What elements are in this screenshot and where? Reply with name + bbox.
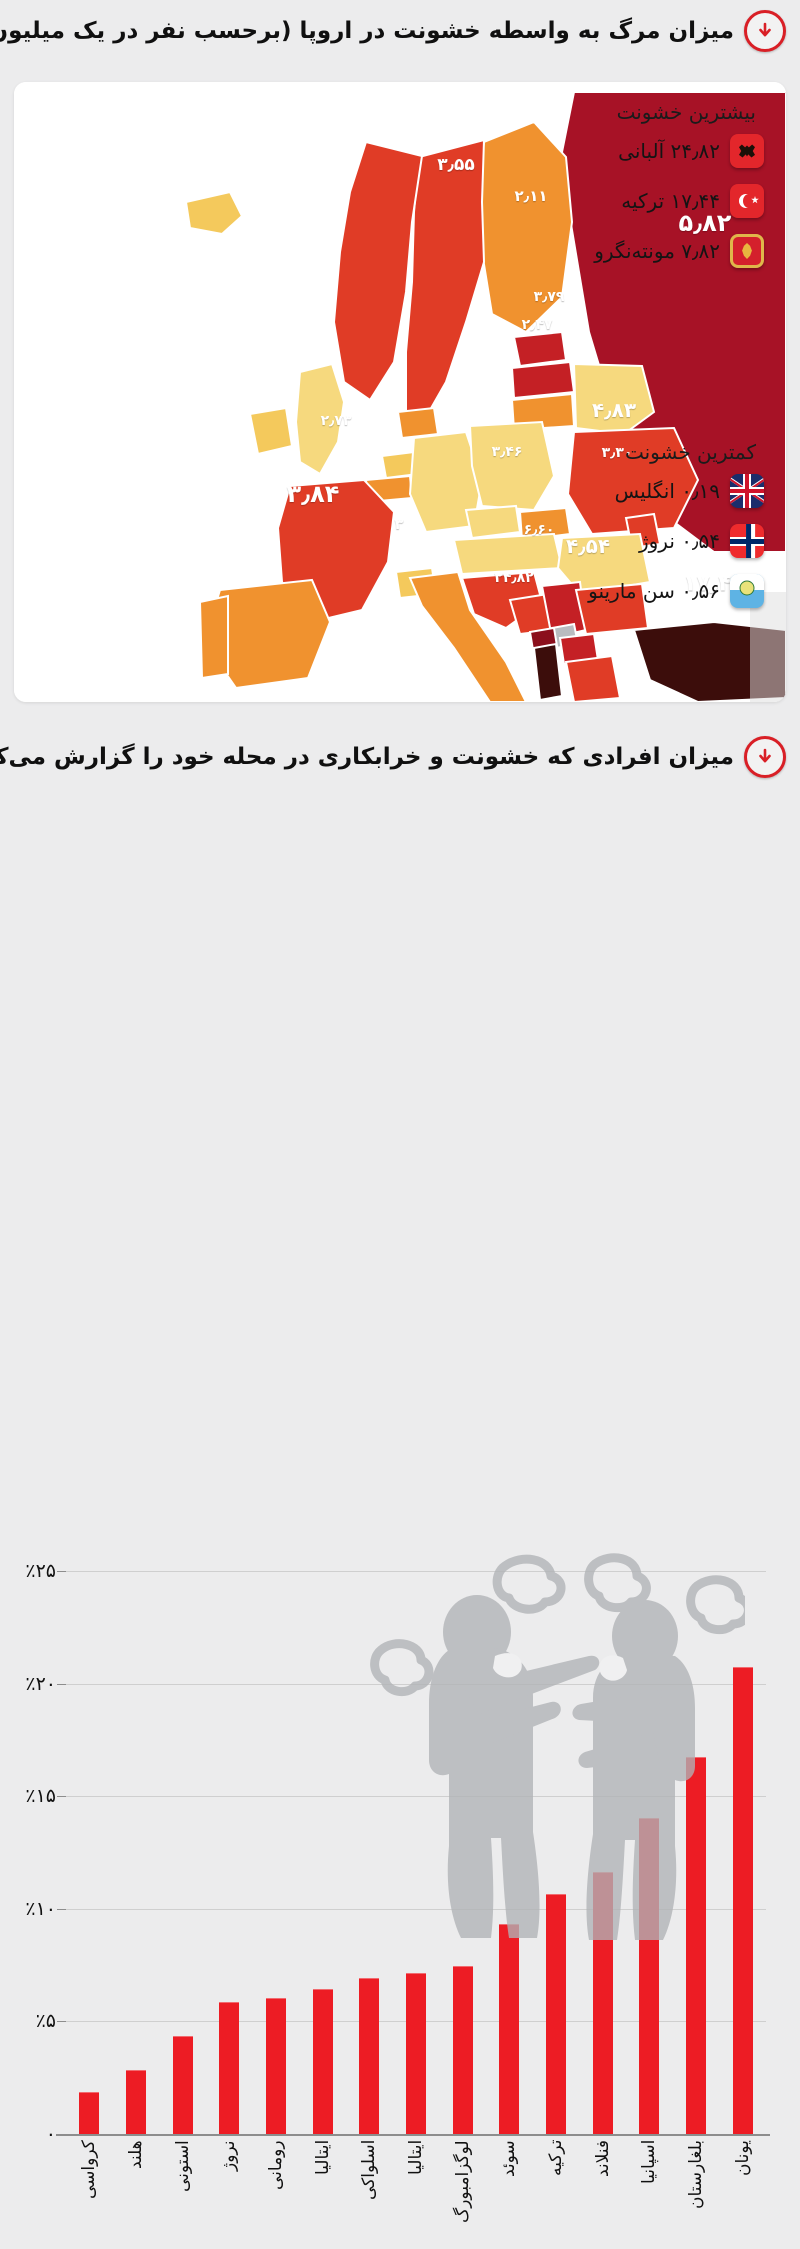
- y-tick-mark: [57, 1796, 66, 1797]
- map-value-ukraine: ۴٫۸۳: [592, 398, 636, 422]
- section-map: میزان مرگ به واسطه خشونت در اروپا (برحسب…: [0, 0, 800, 720]
- x-axis-label: اسلواکی: [359, 2140, 379, 2245]
- y-tick-mark: [57, 2021, 66, 2022]
- turkey-flag: [730, 184, 764, 218]
- map-value-latvia: ۳٫۷۹: [534, 289, 565, 305]
- y-tick-label: ٪۲۰: [25, 1673, 56, 1695]
- x-axis-label: ترکیه: [546, 2140, 566, 2245]
- y-tick-label: ٪۱۵: [25, 1785, 56, 1807]
- norway-flag: [730, 524, 764, 558]
- x-axis-label: فنلاند: [593, 2140, 613, 2245]
- x-label-cell: بلغارستان: [673, 2140, 720, 2245]
- x-axis-label: اسپانیا: [639, 2140, 659, 2245]
- x-label-cell: یونان: [719, 2140, 766, 2245]
- bar: [126, 2070, 146, 2134]
- x-axis-label: هلند: [126, 2140, 146, 2245]
- x-label-cell: رومانی: [253, 2140, 300, 2245]
- chart-section-title: میزان افرادی که خشونت و خرابکاری در محله…: [0, 746, 734, 769]
- x-label-cell: فنلاند: [579, 2140, 626, 2245]
- legend-item: ۰٫۵۴ نروژ: [588, 524, 764, 558]
- legend-item-label: ۰٫۵۴ نروژ: [639, 529, 720, 553]
- map-section-header: میزان مرگ به واسطه خشونت در اروپا (برحسب…: [0, 0, 800, 62]
- x-label-cell: ایتالیا: [393, 2140, 440, 2245]
- map-value-switzerland: ۳: [394, 515, 403, 533]
- map-value-slovakia: ۳٫۴۶: [492, 444, 523, 460]
- legend-item-label: ۱۷٫۴۴ ترکیه: [621, 189, 720, 213]
- y-tick-label: ۰: [46, 2123, 56, 2145]
- map-value-lithuania: ۲٫۴۷: [522, 317, 553, 333]
- legend-item-label: ۲۴٫۸۲ آلبانی: [618, 139, 720, 163]
- chart-title-text: میزان افرادی که خشونت و خرابکاری در محله…: [0, 744, 734, 770]
- y-tick-mark: [57, 1571, 66, 1572]
- bar-item: [66, 1571, 113, 2134]
- x-label-cell: اسلواکی: [346, 2140, 393, 2245]
- y-tick-mark: [57, 1909, 66, 1910]
- map-card: بیشترین خشونت ۲۴٫۸۲ آلبانی ۱۷٫۴۴ ترکیه ۷…: [14, 82, 786, 702]
- y-tick-label: ٪۱۰: [25, 1898, 56, 1920]
- legend-item-label: ۰٫۱۹ انگلیس: [615, 479, 720, 503]
- map-value-france: ۳٫۸۴: [287, 480, 340, 508]
- x-label-cell: ترکیه: [533, 2140, 580, 2245]
- bar: [359, 1978, 379, 2134]
- bar: [453, 1966, 473, 2134]
- x-axis-label: بلغارستان: [686, 2140, 706, 2245]
- legend-item-label: ۰٫۵۶ سن مارینو: [588, 579, 720, 603]
- albania-flag: [730, 134, 764, 168]
- bar-item: [206, 1571, 253, 2134]
- down-arrow-icon: [744, 10, 786, 52]
- down-arrow-icon: [744, 736, 786, 778]
- x-label-cell: ایتالیا: [299, 2140, 346, 2245]
- legend-most-title: بیشترین خشونت: [594, 100, 756, 124]
- x-axis-label: یونان: [733, 2140, 753, 2245]
- x-axis-label: کرواسی: [79, 2140, 99, 2245]
- chart-section-header: میزان افرادی که خشونت و خرابکاری در محله…: [0, 726, 800, 788]
- bar: [173, 2036, 193, 2134]
- map-value-finland: ۲٫۱۱: [514, 187, 547, 205]
- bar: [406, 1973, 426, 2134]
- y-tick-label: ٪۲۵: [25, 1560, 56, 1582]
- bar-item: [159, 1571, 206, 2134]
- bar: [219, 2002, 239, 2134]
- x-axis-label: سوئد: [499, 2140, 519, 2245]
- x-axis-label: ایتالیا: [406, 2140, 426, 2245]
- map-value-serbia: ۶٫۶۰: [524, 522, 555, 538]
- x-axis-label: رومانی: [266, 2140, 286, 2245]
- legend-least-violence: کمترین خشونت ۰٫۱۹ انگلیس ۰٫۵۴ نروژ: [588, 440, 764, 624]
- legend-least-title: کمترین خشونت: [588, 440, 756, 464]
- arguing-people-illustration: [345, 1546, 745, 1986]
- montenegro-flag: [730, 234, 764, 268]
- legend-item: ۲۴٫۸۲ آلبانی: [594, 134, 764, 168]
- x-label-cell: اسپانیا: [626, 2140, 673, 2245]
- x-axis-labels: یونانبلغارستاناسپانیافنلاندترکیهسوئدلوگز…: [66, 2140, 766, 2245]
- x-axis-line: [56, 2134, 770, 2136]
- legend-item: ۰٫۱۹ انگلیس: [588, 474, 764, 508]
- x-label-cell: هلند: [113, 2140, 160, 2245]
- map-value-albania: ۲۴٫۸۲: [494, 570, 533, 586]
- bar: [79, 2092, 99, 2134]
- bar: [313, 1989, 333, 2134]
- x-axis-label: لوگزامبورگ: [453, 2140, 473, 2245]
- legend-item-label: ۷٫۸۲ مونته‌نگرو: [594, 239, 720, 263]
- x-label-cell: لوگزامبورگ: [439, 2140, 486, 2245]
- y-tick-label: ٪۵: [36, 2010, 56, 2032]
- section-chart: میزان افرادی که خشونت و خرابکاری در محله…: [0, 726, 800, 1523]
- map-value-belgium: ۲٫۷۳: [321, 413, 352, 429]
- x-label-cell: کرواسی: [66, 2140, 113, 2245]
- y-tick-mark: [57, 1684, 66, 1685]
- legend-item: ۰٫۵۶ سن مارینو: [588, 574, 764, 608]
- x-label-cell: استونی: [159, 2140, 206, 2245]
- legend-item: ۱۷٫۴۴ ترکیه: [594, 184, 764, 218]
- x-axis-label: ایتالیا: [313, 2140, 333, 2245]
- map-value-sweden: ۳٫۵۵: [437, 155, 474, 175]
- uk-flag: [730, 474, 764, 508]
- x-label-cell: نروژ: [206, 2140, 253, 2245]
- bar-item: [253, 1571, 300, 2134]
- x-axis-label: استونی: [173, 2140, 193, 2245]
- bar-item: [113, 1571, 160, 2134]
- map-section-title: میزان مرگ به واسطه خشونت در اروپا (برحسب…: [0, 20, 734, 43]
- bar: [266, 1998, 286, 2134]
- legend-item: ۷٫۸۲ مونته‌نگرو: [594, 234, 764, 268]
- sanmarino-flag: [730, 574, 764, 608]
- bar-chart: ۰٪۵٪۱۰٪۱۵٪۲۰٪۲۵ یونانبلغارستاناسپانیافنل…: [0, 1526, 800, 2249]
- bar-item: [299, 1571, 346, 2134]
- legend-most-violence: بیشترین خشونت ۲۴٫۸۲ آلبانی ۱۷٫۴۴ ترکیه ۷…: [594, 100, 764, 284]
- x-label-cell: سوئد: [486, 2140, 533, 2245]
- x-axis-label: نروژ: [219, 2140, 239, 2245]
